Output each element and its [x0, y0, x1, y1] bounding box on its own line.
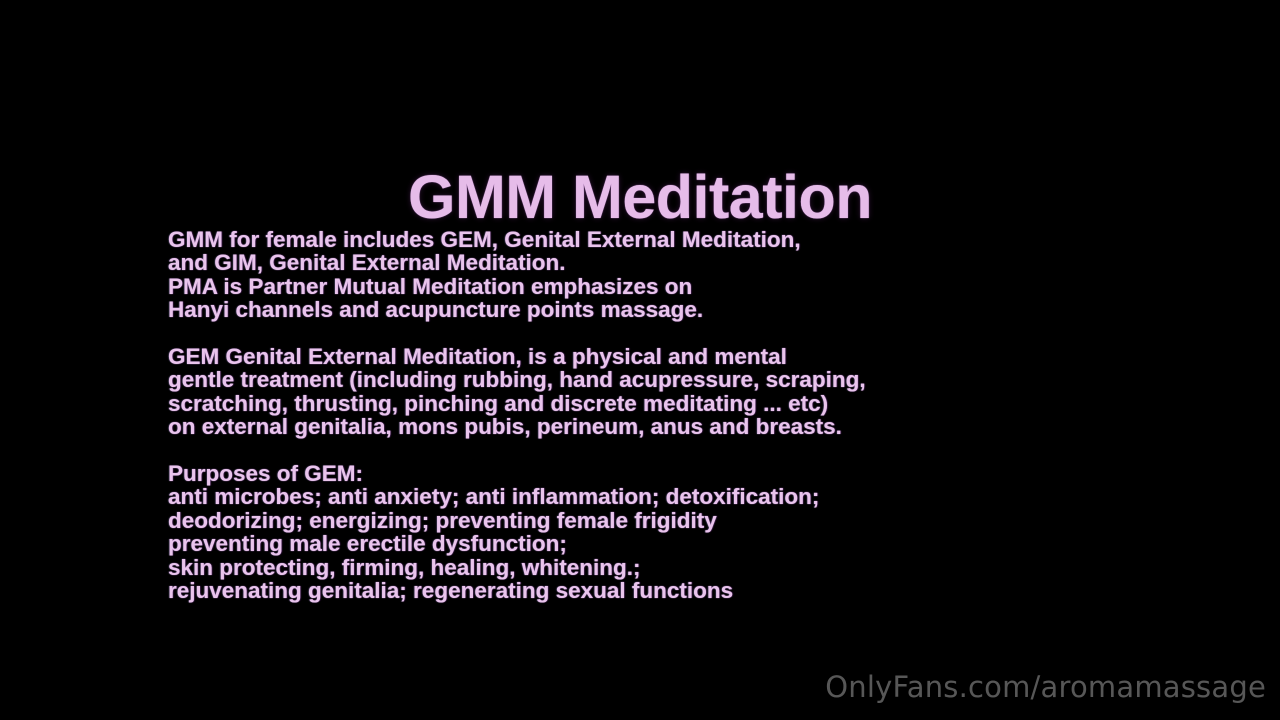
body-line: preventing male erectile dysfunction;	[168, 532, 1168, 555]
body-line: anti microbes; anti anxiety; anti inflam…	[168, 485, 1168, 508]
watermark: OnlyFans.com/aromamassage	[825, 670, 1266, 704]
slide-body: GMM for female includes GEM, Genital Ext…	[168, 228, 1168, 602]
paragraph-gem-description: GEM Genital External Meditation, is a ph…	[168, 345, 1168, 439]
body-line: PMA is Partner Mutual Meditation emphasi…	[168, 275, 1168, 298]
body-line: Purposes of GEM:	[168, 462, 1168, 485]
body-line: scratching, thrusting, pinching and disc…	[168, 392, 1168, 415]
body-line: GEM Genital External Meditation, is a ph…	[168, 345, 1168, 368]
paragraph-definitions: GMM for female includes GEM, Genital Ext…	[168, 228, 1168, 322]
body-line: GMM for female includes GEM, Genital Ext…	[168, 228, 1168, 251]
body-line: and GIM, Genital External Meditation.	[168, 251, 1168, 274]
body-line: on external genitalia, mons pubis, perin…	[168, 415, 1168, 438]
body-line: gentle treatment (including rubbing, han…	[168, 368, 1168, 391]
body-line: skin protecting, firming, healing, white…	[168, 556, 1168, 579]
body-line: deodorizing; energizing; preventing fema…	[168, 509, 1168, 532]
body-line: Hanyi channels and acupuncture points ma…	[168, 298, 1168, 321]
paragraph-gem-purposes: Purposes of GEM: anti microbes; anti anx…	[168, 462, 1168, 602]
page-title: GMM Meditation	[0, 167, 1280, 228]
slide-canvas: GMM Meditation GMM for female includes G…	[0, 0, 1280, 720]
body-line: rejuvenating genitalia; regenerating sex…	[168, 579, 1168, 602]
